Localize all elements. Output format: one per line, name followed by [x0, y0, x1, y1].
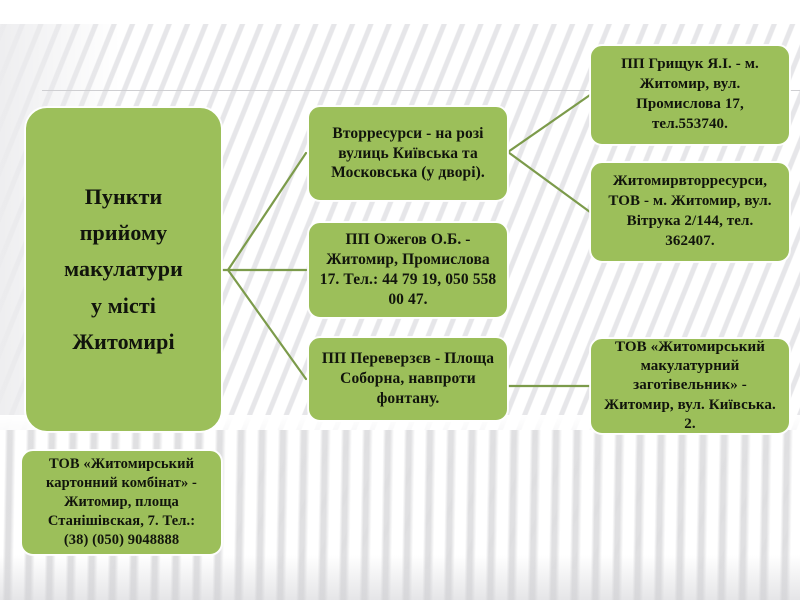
background-bottom-shade [0, 555, 800, 600]
node-zagotivelnyk[interactable]: ТОВ «Житомирський макулатурний заготівел… [590, 338, 790, 434]
node-zhytomyrvtorresursy[interactable]: Житомирвторресурси, ТОВ - м. Житомир, ву… [590, 162, 790, 262]
node-hryshchuk-label: ПП Грищук Я.І. - м. Житомир, вул. Промис… [591, 53, 789, 136]
node-kartonnyi-kombinat[interactable]: ТОВ «Житомирський картонний комбінат» - … [21, 450, 222, 555]
slide-canvas: Пункти прийому макулатури у місті Житоми… [0, 0, 800, 600]
node-pereverzev-label: ПП Переверзєв - Площа Соборна, навпроти … [309, 347, 507, 410]
node-pereverzev[interactable]: ПП Переверзєв - Площа Соборна, навпроти … [308, 337, 508, 421]
node-ozhegov-label: ПП Ожегов О.Б. - Житомир, Промислова 17.… [309, 228, 507, 311]
node-vtorresursy[interactable]: Вторресурси - на розі вулиць Київська та… [308, 106, 508, 201]
node-ozhegov[interactable]: ПП Ожегов О.Б. - Житомир, Промислова 17.… [308, 222, 508, 318]
node-hryshchuk[interactable]: ПП Грищук Я.І. - м. Житомир, вул. Промис… [590, 45, 790, 145]
node-zagotivelnyk-label: ТОВ «Житомирський макулатурний заготівел… [591, 336, 789, 436]
node-root-label: Пункти прийому макулатури у місті Житоми… [26, 177, 221, 362]
node-root[interactable]: Пункти прийому макулатури у місті Житоми… [25, 107, 222, 432]
node-vtorresursy-label: Вторресурси - на розі вулиць Київська та… [309, 122, 507, 185]
node-kartonnyi-kombinat-label: ТОВ «Житомирський картонний комбінат» - … [22, 453, 221, 551]
node-zhytomyrvtorresursy-label: Житомирвторресурси, ТОВ - м. Житомир, ву… [591, 170, 789, 253]
